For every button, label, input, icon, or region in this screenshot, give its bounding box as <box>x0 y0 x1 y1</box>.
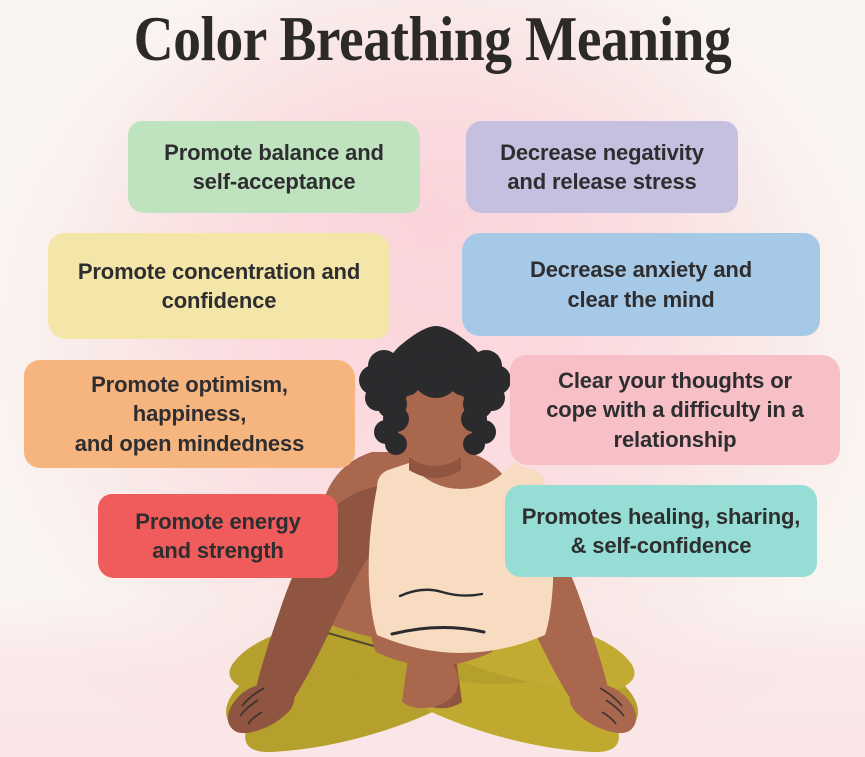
meaning-box-blue-text: Decrease anxiety andclear the mind <box>478 255 804 313</box>
meaning-box-teal[interactable]: Promotes healing, sharing,& self-confide… <box>505 485 817 577</box>
meaning-box-green-text: Promote balance andself-acceptance <box>144 138 404 196</box>
meaning-box-green[interactable]: Promote balance andself-acceptance <box>128 121 420 213</box>
infographic-poster: Color Breathing Meaning Promote balance … <box>0 0 865 757</box>
meaning-box-purple-text: Decrease negativityand release stress <box>482 138 722 196</box>
meaning-box-teal-text: Promotes healing, sharing,& self-confide… <box>521 502 801 560</box>
meaning-box-orange-text: Promote optimism, happiness,and open min… <box>40 370 339 457</box>
background-floor-tint <box>0 597 865 757</box>
meaning-box-red[interactable]: Promote energyand strength <box>98 494 338 578</box>
meaning-box-yellow-text: Promote concentration andconfidence <box>64 257 374 315</box>
meaning-box-orange[interactable]: Promote optimism, happiness,and open min… <box>24 360 355 468</box>
meaning-box-pink-text: Clear your thoughts orcope with a diffic… <box>526 366 824 453</box>
meaning-box-red-text: Promote energyand strength <box>114 507 322 565</box>
page-title: Color Breathing Meaning <box>52 6 813 72</box>
meaning-box-yellow[interactable]: Promote concentration andconfidence <box>48 233 390 339</box>
meaning-box-purple[interactable]: Decrease negativityand release stress <box>466 121 738 213</box>
meaning-box-blue[interactable]: Decrease anxiety andclear the mind <box>462 233 820 336</box>
meaning-box-pink[interactable]: Clear your thoughts orcope with a diffic… <box>510 355 840 465</box>
